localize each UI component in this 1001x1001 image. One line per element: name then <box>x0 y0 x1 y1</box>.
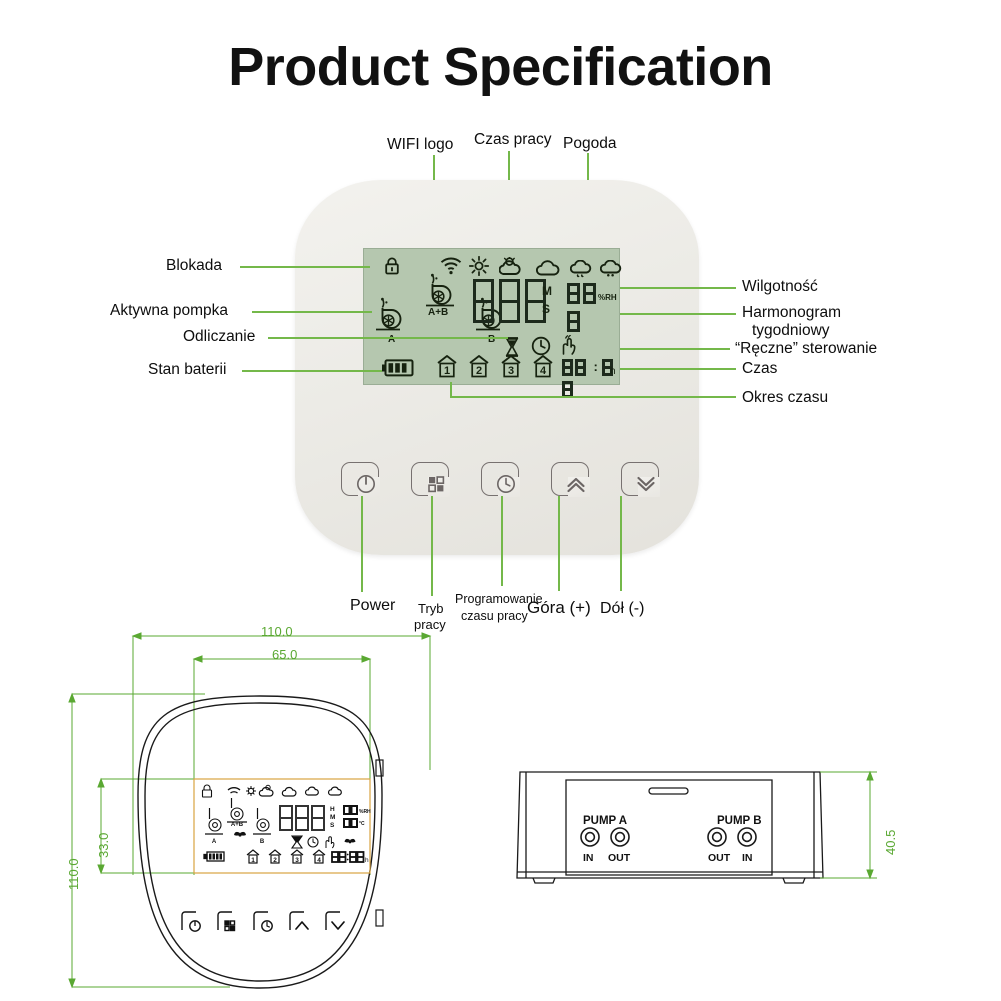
leader-blokada <box>240 266 370 268</box>
lock-icon <box>384 257 400 275</box>
leader-odliczanie <box>268 337 508 339</box>
leader-czas <box>620 368 736 370</box>
battery-full-icon <box>382 359 414 377</box>
dim-width-total: 110.0 <box>261 624 293 639</box>
dim-height-lcd: 33.0 <box>96 833 111 858</box>
svg-text:B: B <box>260 839 265 845</box>
svg-text:A: A <box>212 839 217 845</box>
leader-wilgotnosc <box>620 287 736 289</box>
callout-dol: Dół (-) <box>600 600 644 618</box>
front-view-buttons <box>178 908 378 952</box>
pump-b-port-in: IN <box>742 852 753 864</box>
callout-odliczanie: Odliczanie <box>183 328 255 346</box>
callout-czas-pracy: Czas pracy <box>474 131 552 149</box>
svg-text:H: H <box>330 806 335 813</box>
svg-text:2: 2 <box>476 365 482 377</box>
unit-s-label: S <box>542 302 550 316</box>
callout-blokada: Blokada <box>166 257 222 275</box>
day-box-2: 2 <box>468 354 490 378</box>
rain-cloud-icon <box>570 260 594 278</box>
svg-text:3: 3 <box>508 365 514 377</box>
callout-wilgotnosc: Wilgotność <box>742 278 818 296</box>
unit-m-label: M <box>542 284 552 298</box>
svg-text:h: h <box>365 857 369 864</box>
schedule-digit <box>567 311 580 337</box>
snow-cloud-icon <box>600 260 624 278</box>
callout-tygodniowy: tygodniowy <box>752 322 830 340</box>
pump-a-port-out: OUT <box>608 852 630 864</box>
humidity-unit-label: %RH <box>598 293 617 302</box>
svg-text:1: 1 <box>444 365 450 377</box>
svg-text:4: 4 <box>317 857 321 864</box>
svg-text:°C: °C <box>359 821 365 827</box>
clock-icon <box>531 336 551 356</box>
up-button[interactable] <box>551 462 589 496</box>
leader-okres-czasu <box>450 396 736 398</box>
svg-text:A+B: A+B <box>231 822 244 828</box>
day-box-4: 4 <box>532 354 554 378</box>
svg-text:S: S <box>330 822 335 829</box>
pump-ab-label: A+B <box>428 307 448 318</box>
callout-czas: Czas <box>742 360 777 378</box>
callout-stan-baterii: Stan baterii <box>148 361 226 379</box>
callout-czasu-pracy: czasu pracy <box>461 609 528 623</box>
pump-a-icon <box>374 297 410 337</box>
day-box-3: 3 <box>500 354 522 378</box>
main-digits <box>473 279 546 328</box>
leader-power <box>361 496 363 592</box>
pump-b-port-out: OUT <box>708 852 730 864</box>
pump-a-label: A <box>388 334 395 345</box>
leader-okres-czasu-v <box>450 382 452 397</box>
svg-text:M: M <box>330 814 335 821</box>
clock-icon <box>495 473 517 495</box>
power-button[interactable] <box>341 462 379 496</box>
sun-cloud-icon <box>499 257 525 276</box>
callout-aktywna-pompka: Aktywna pompka <box>110 302 228 320</box>
power-icon <box>355 473 377 495</box>
svg-text:4: 4 <box>540 365 547 377</box>
callout-gora: Góra (+) <box>527 598 591 618</box>
svg-text:2: 2 <box>273 857 277 864</box>
pump-a-port-in: IN <box>583 852 594 864</box>
side-view-drawing <box>495 755 895 905</box>
cloud-icon <box>536 260 562 276</box>
callout-pogoda: Pogoda <box>563 135 616 153</box>
time-unit-label: h <box>610 366 616 377</box>
leader-dol <box>620 496 622 591</box>
callout-harmonogram: Harmonogram <box>742 304 841 322</box>
program-button[interactable] <box>481 462 519 496</box>
callout-power: Power <box>350 597 395 615</box>
lcd-display: A A+B <box>363 248 620 385</box>
callout-tryb: Tryb <box>418 601 444 616</box>
page-root: Product Specification WIFI logo Czas pra… <box>0 0 1001 1001</box>
chevron-down-icon <box>635 473 657 495</box>
chevron-up-icon <box>565 473 587 495</box>
leader-harmonogram <box>620 313 736 315</box>
hand-manual-icon <box>560 335 578 355</box>
down-button[interactable] <box>621 462 659 496</box>
leader-aktywna-pompka <box>252 311 372 313</box>
leader-programowanie <box>501 496 503 586</box>
callout-reczne-sterowanie: “Ręczne” sterowanie <box>735 340 877 358</box>
pump-b-title: PUMP B <box>717 815 762 827</box>
leader-tryb <box>431 496 433 596</box>
leader-reczne-sterowanie <box>620 348 730 350</box>
leader-stan-baterii <box>242 370 382 372</box>
day-box-1: 1 <box>436 354 458 378</box>
callout-okres-czasu: Okres czasu <box>742 389 828 407</box>
pump-b-label: B <box>488 334 495 345</box>
svg-text:3: 3 <box>295 857 299 864</box>
pump-a-title: PUMP A <box>583 815 627 827</box>
leader-gora <box>558 496 560 591</box>
dim-side-height: 40.5 <box>883 830 898 855</box>
svg-text:%RH: %RH <box>359 809 371 815</box>
grid-mode-icon <box>425 473 447 495</box>
page-title: Product Specification <box>0 36 1001 98</box>
dim-width-lcd: 65.0 <box>272 647 297 662</box>
callout-wifi-logo: WIFI logo <box>387 136 453 154</box>
dim-height-total: 110.0 <box>66 858 81 890</box>
mode-button[interactable] <box>411 462 449 496</box>
svg-text:1: 1 <box>251 857 255 864</box>
front-view-lcd-content: A A+B B H M S %RH °C <box>192 778 374 866</box>
sun-icon <box>469 256 489 276</box>
humidity-digits <box>567 283 596 309</box>
